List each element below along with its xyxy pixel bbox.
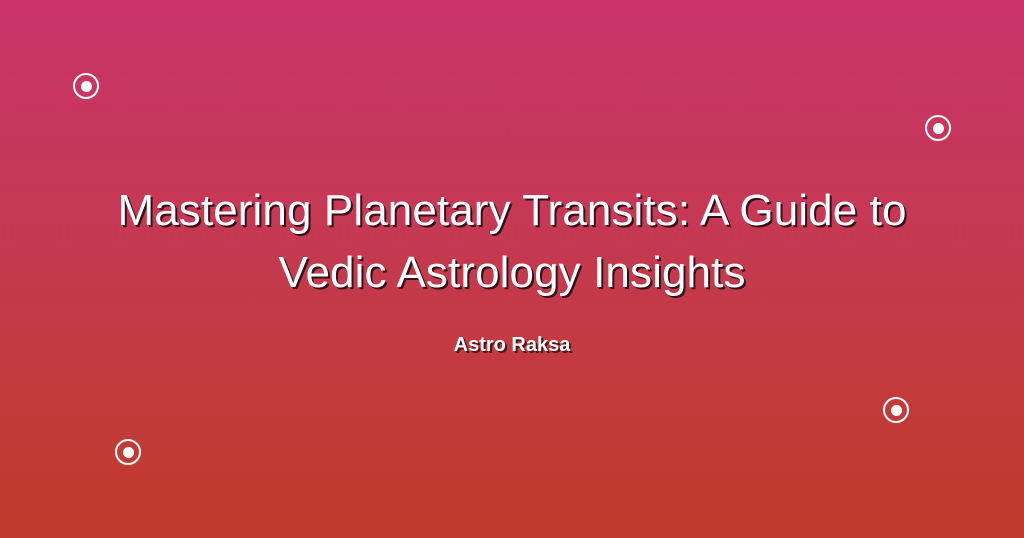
page-title: Mastering Planetary Transits: A Guide to… <box>72 180 952 304</box>
title-slide: Mastering Planetary Transits: A Guide to… <box>0 0 1024 538</box>
slide-subtitle: Astro Raksa <box>454 332 571 358</box>
slide-content: Mastering Planetary Transits: A Guide to… <box>0 0 1024 538</box>
